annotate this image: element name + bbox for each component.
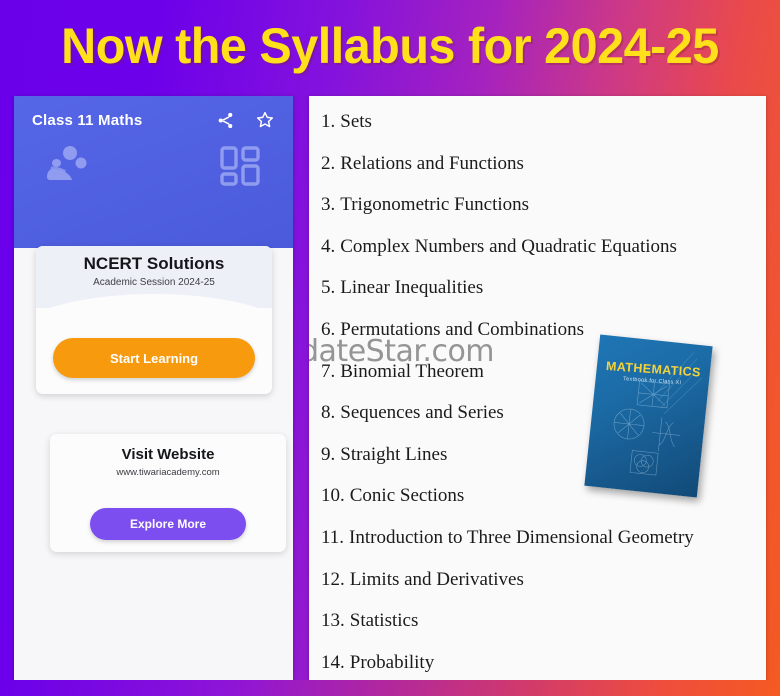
ncert-card-subtitle: Academic Session 2024-25: [36, 277, 272, 288]
syllabus-item: 11.Introduction to Three Dimensional Geo…: [321, 528, 766, 570]
syllabus-item-number: 14.: [321, 652, 345, 673]
syllabus-item-label: Probability: [350, 652, 434, 673]
syllabus-item-number: 4.: [321, 236, 335, 257]
syllabus-item-label: Introduction to Three Dimensional Geomet…: [349, 527, 694, 548]
syllabus-item: 2.Relations and Functions: [321, 154, 766, 196]
syllabus-item-number: 10.: [321, 485, 345, 506]
syllabus-item-label: Statistics: [350, 610, 419, 631]
people-group-icon: [46, 144, 92, 188]
syllabus-item: 5.Linear Inequalities: [321, 278, 766, 320]
syllabus-item-number: 8.: [321, 402, 335, 423]
syllabus-item-number: 6.: [321, 319, 335, 340]
syllabus-item-label: Conic Sections: [350, 485, 465, 506]
app-toolbar: Class 11 Maths: [14, 96, 293, 130]
syllabus-item-number: 13.: [321, 610, 345, 631]
bottom-gradient-strip: [0, 680, 780, 696]
app-title: Class 11 Maths: [32, 112, 142, 129]
ncert-card-header: NCERT Solutions Academic Session 2024-25: [36, 246, 272, 308]
syllabus-item-label: Straight Lines: [340, 444, 447, 465]
mathematics-textbook-image: MATHEMATICS Textbook for Class XI: [584, 335, 712, 498]
ncert-card-title: NCERT Solutions: [36, 254, 272, 274]
star-outline-icon[interactable]: [255, 110, 275, 130]
syllabus-item: 4.Complex Numbers and Quadratic Equation…: [321, 237, 766, 279]
syllabus-item-label: Limits and Derivatives: [350, 569, 524, 590]
syllabus-item-number: 1.: [321, 111, 335, 132]
share-icon[interactable]: [216, 111, 235, 130]
start-learning-button[interactable]: Start Learning: [53, 338, 255, 378]
syllabus-item-number: 11.: [321, 527, 344, 548]
syllabus-item-label: Sequences and Series: [340, 402, 504, 423]
syllabus-item-label: Relations and Functions: [340, 153, 524, 174]
app-preview-panel: Class 11 Maths: [14, 96, 293, 680]
visit-website-title: Visit Website: [50, 446, 286, 463]
syllabus-item-label: Sets: [340, 111, 372, 132]
syllabus-item-number: 9.: [321, 444, 335, 465]
ncert-solutions-card[interactable]: NCERT Solutions Academic Session 2024-25…: [36, 246, 272, 394]
visit-website-url: www.tiwariacademy.com: [50, 467, 286, 478]
visit-website-card[interactable]: Visit Website www.tiwariacademy.com Expl…: [50, 434, 286, 552]
syllabus-item: 12.Limits and Derivatives: [321, 570, 766, 612]
syllabus-item-number: 7.: [321, 361, 335, 382]
syllabus-item-number: 2.: [321, 153, 335, 174]
syllabus-panel: 1.Sets2.Relations and Functions3.Trigono…: [309, 96, 766, 680]
app-toolbar-icons: [216, 110, 275, 130]
syllabus-item: 14.Probability: [321, 653, 766, 680]
syllabus-item: 1.Sets: [321, 112, 766, 154]
app-hero-icons: [14, 130, 293, 188]
explore-more-button[interactable]: Explore More: [90, 508, 246, 540]
syllabus-item: 13.Statistics: [321, 611, 766, 653]
syllabus-item-label: Binomial Theorem: [340, 361, 484, 382]
syllabus-item-number: 3.: [321, 194, 335, 215]
banner: Now the Syllabus for 2024-25: [0, 0, 780, 92]
app-header: Class 11 Maths: [14, 96, 293, 248]
grid-dashboard-icon: [219, 145, 261, 187]
syllabus-item-number: 12.: [321, 569, 345, 590]
syllabus-item: 3.Trigonometric Functions: [321, 195, 766, 237]
page-title: Now the Syllabus for 2024-25: [61, 17, 719, 75]
syllabus-item-label: Trigonometric Functions: [340, 194, 529, 215]
syllabus-item-label: Permutations and Combinations: [340, 319, 584, 340]
syllabus-item-label: Complex Numbers and Quadratic Equations: [340, 236, 677, 257]
syllabus-item: 10.Conic Sections: [321, 486, 766, 528]
syllabus-item-label: Linear Inequalities: [340, 277, 483, 298]
syllabus-item-number: 5.: [321, 277, 335, 298]
